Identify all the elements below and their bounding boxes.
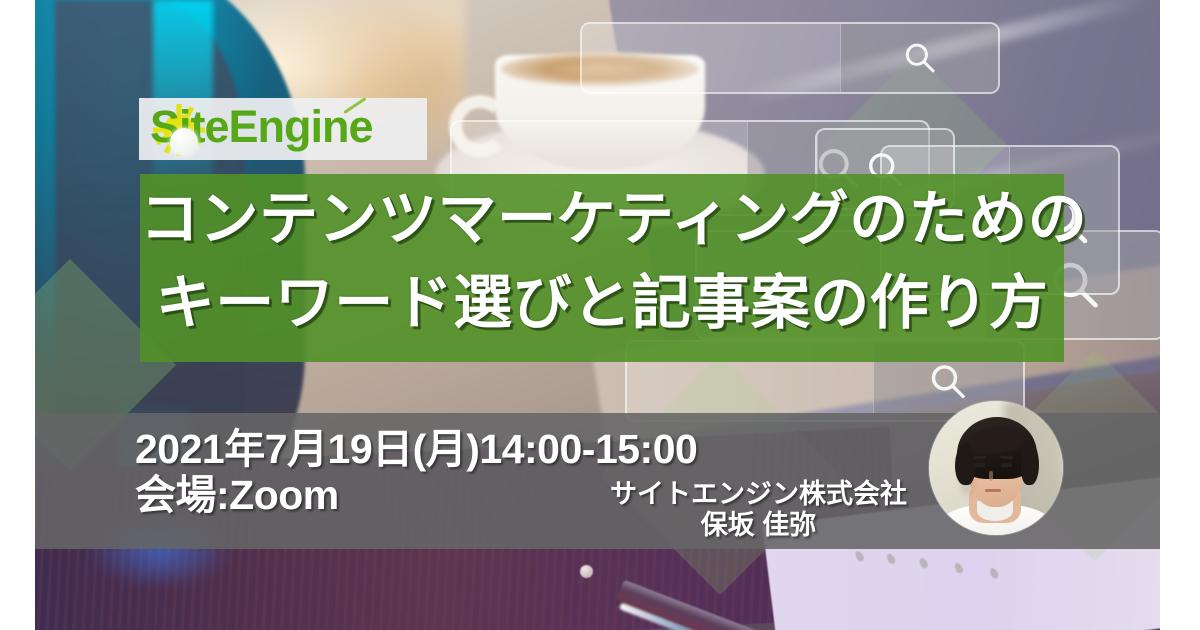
speaker-name: 保坂 佳弥: [610, 510, 907, 541]
webinar-banner: コンテンツマーケティングのための キーワード選びと記事案の作り方: [0, 0, 1200, 630]
desk-bubble: [580, 565, 593, 578]
avatar: [929, 401, 1063, 535]
search-icon: [879, 40, 961, 75]
search-box-overlay: [580, 22, 1000, 94]
search-icon: [909, 361, 987, 402]
search-button-overlay: [840, 24, 998, 92]
logo-white-dot: [170, 128, 198, 156]
event-info-bar: 2021年7月19日(月)14:00-15:00 会場:Zoom サイトエンジン…: [35, 413, 1160, 549]
event-date: 2021年7月19日(月)14:00-15:00: [135, 427, 697, 473]
siteengine-logo: SiteEngine: [139, 98, 427, 160]
speaker-company: サイトエンジン株式会社: [610, 479, 907, 510]
title-banner: コンテンツマーケティングのための キーワード選びと記事案の作り方: [140, 174, 1064, 362]
title-line-1: コンテンツマーケティングのための: [140, 190, 1064, 249]
title-line-2: キーワード選びと記事案の作り方: [140, 274, 1064, 333]
speaker-info: サイトエンジン株式会社 保坂 佳弥: [610, 479, 907, 541]
